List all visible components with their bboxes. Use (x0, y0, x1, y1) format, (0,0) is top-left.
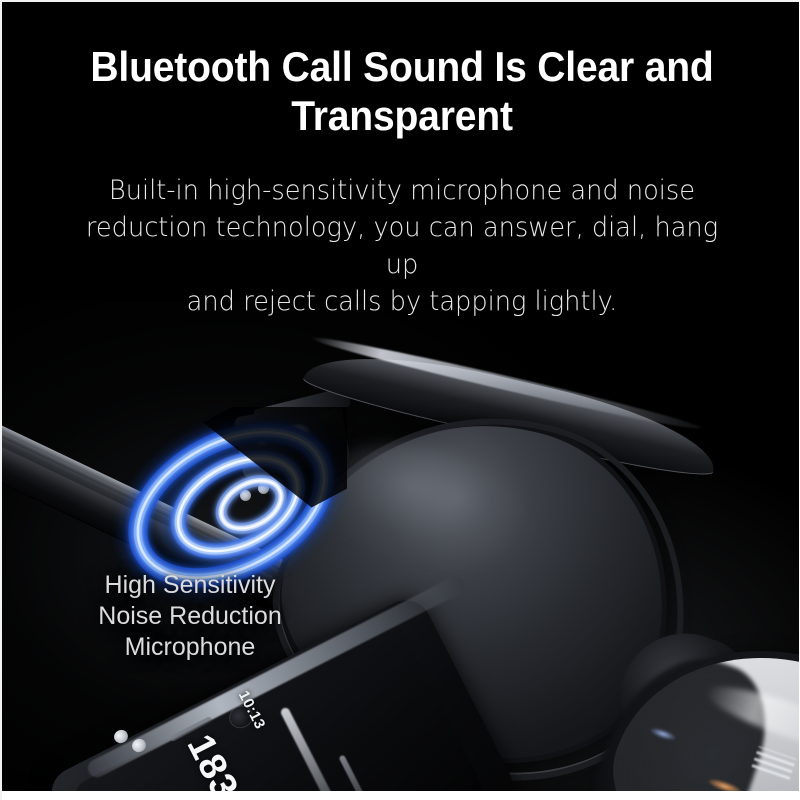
subcopy: Built-in high-sensitivity microphone and… (22, 172, 782, 320)
subcopy-line-3: and reject calls by tapping lightly. (71, 283, 732, 320)
text-block: Bluetooth Call Sound Is Clear and Transp… (2, 2, 800, 320)
callout-line-3: Microphone (40, 632, 340, 663)
headline-line-1: Bluetooth Call Sound Is Clear and (67, 42, 737, 91)
headline-line-2: Transparent (67, 91, 737, 140)
footer-strip (2, 791, 800, 800)
subcopy-line-2: reduction technology, you can answer, di… (71, 209, 732, 283)
callout-line-2: Noise Reduction (40, 601, 340, 632)
subcopy-line-1: Built-in high-sensitivity microphone and… (71, 172, 732, 209)
feature-callout-label: High Sensitivity Noise Reduction Microph… (40, 570, 340, 663)
page-title: Bluetooth Call Sound Is Clear and Transp… (30, 42, 774, 140)
product-feature-banner: 10:13 183 5 (0, 0, 800, 800)
callout-line-1: High Sensitivity (40, 570, 340, 601)
